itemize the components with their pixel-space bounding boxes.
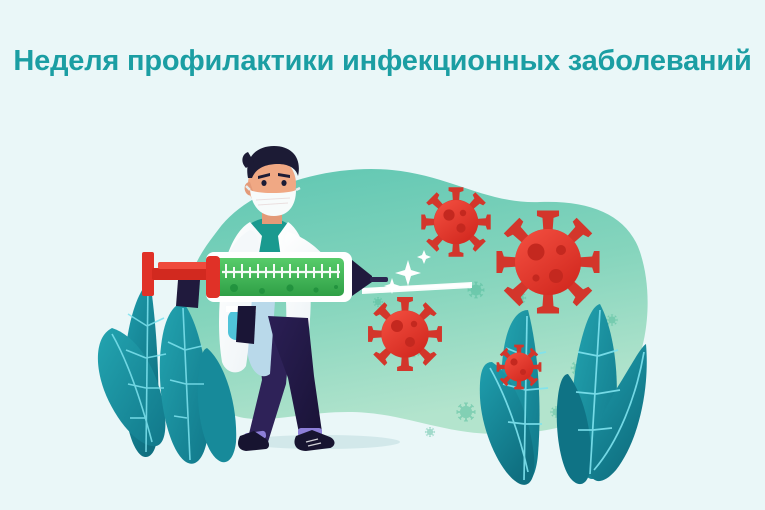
- virus-large: [496, 210, 599, 313]
- title-bar: Неделя профилактики инфекционных заболев…: [0, 0, 765, 112]
- virus-top-left: [421, 187, 490, 256]
- syringe-grip: [176, 280, 200, 308]
- syringe-piston: [206, 256, 220, 298]
- page-title: Неделя профилактики инфекционных заболев…: [13, 37, 751, 76]
- virus-mid: [368, 297, 442, 371]
- eye-right: [281, 180, 286, 186]
- syringe-needle: [370, 277, 388, 282]
- poster-canvas: Неделя профилактики инфекционных заболев…: [0, 0, 765, 510]
- virus-small: [497, 345, 542, 390]
- belt: [236, 306, 256, 344]
- illustration: [0, 112, 765, 510]
- eye-left: [261, 180, 266, 186]
